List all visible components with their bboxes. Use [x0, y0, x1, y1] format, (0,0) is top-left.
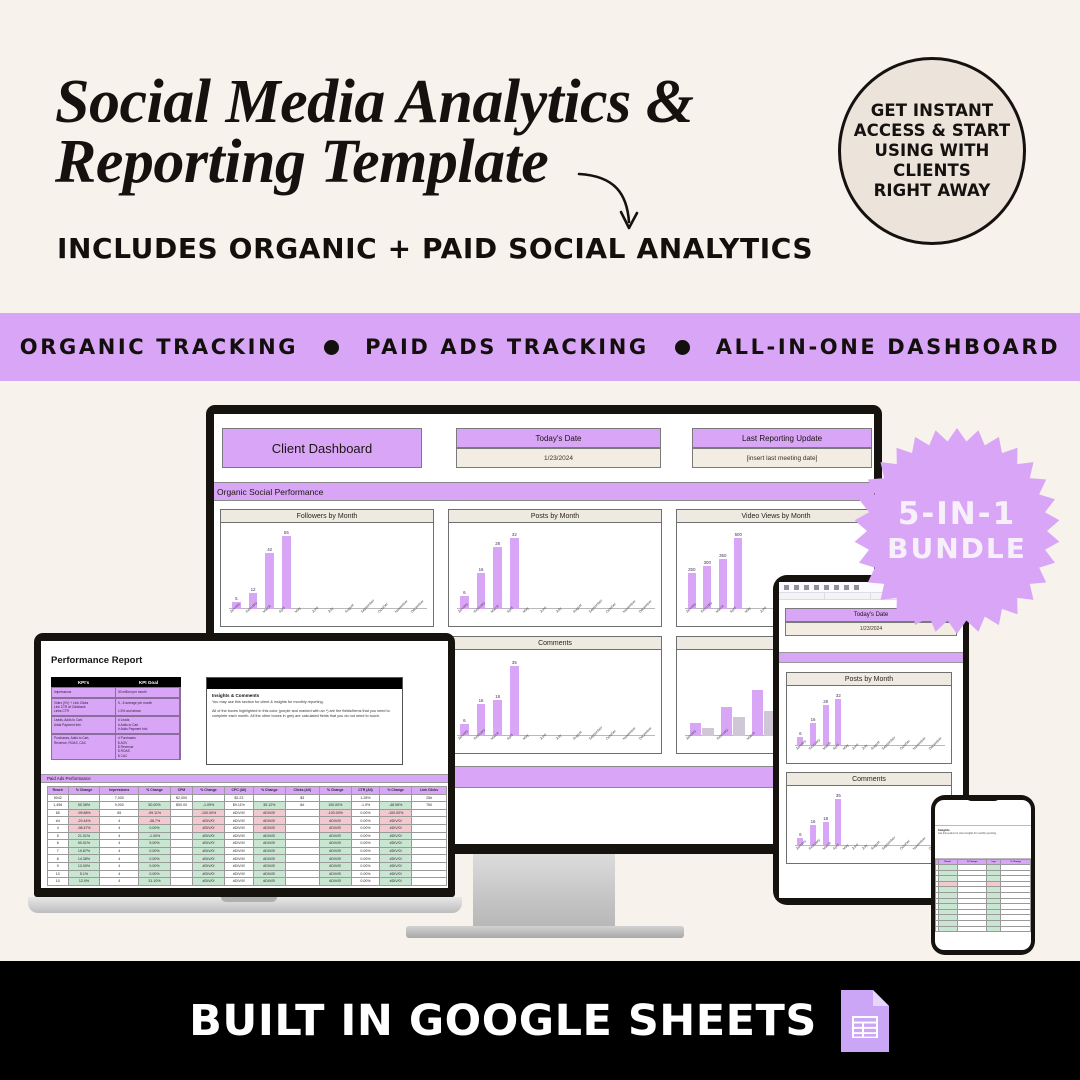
table-cell[interactable]: #DIV/0!	[224, 878, 253, 886]
table-cell[interactable]: #DIV/0!	[224, 870, 253, 878]
table-cell[interactable]: 0.00%	[351, 817, 380, 825]
table-cell[interactable]: $3	[285, 794, 319, 802]
table-cell[interactable]: 5042	[48, 794, 69, 802]
table-cell[interactable]	[412, 840, 447, 848]
table-cell[interactable]: 14.38%	[68, 855, 100, 863]
table-cell[interactable]: #DIV/0!	[193, 832, 225, 840]
monitor-base	[406, 926, 684, 938]
table-cell[interactable]: #DIV/0!	[253, 809, 285, 817]
bar-column: 6	[457, 529, 472, 609]
table-row[interactable]: 814.38%40.00%#DIV/0!#DIV/0!#DIV/0!#DIV/0…	[48, 855, 447, 863]
table-row[interactable]	[936, 926, 1031, 932]
table-cell[interactable]	[170, 847, 192, 855]
kpi-table-cell: Video (VV) + Link Clicks Link CTR at Cli…	[52, 699, 116, 715]
table-cell[interactable]: -100.00%	[380, 809, 412, 817]
table-cell[interactable]: #DIV/0!	[253, 840, 285, 848]
table-cell[interactable]	[412, 862, 447, 870]
redo-icon[interactable]	[794, 585, 799, 590]
column-header-cell[interactable]	[779, 593, 825, 599]
table-cell[interactable]	[412, 817, 447, 825]
table-cell[interactable]	[139, 794, 171, 802]
table-cell[interactable]: 750	[412, 802, 447, 810]
bar-column	[858, 792, 869, 846]
table-cell[interactable]: -99.11%	[139, 809, 171, 817]
table-row[interactable]: 105.1%40.00%#DIV/0!#DIV/0!#DIV/0!#DIV/0!…	[48, 870, 447, 878]
chart-plot-area: 6162832 JanuaryFebruaryMarchAprilMayJune…	[449, 523, 661, 626]
table-cell[interactable]	[170, 809, 192, 817]
table-cell[interactable]: #DIV/0!	[319, 878, 351, 886]
instant-access-badge-text: GET INSTANT ACCESS & START USING WITH CL…	[841, 101, 1023, 202]
table-cell[interactable]: #DIV/0!	[193, 847, 225, 855]
table-cell[interactable]	[957, 926, 987, 932]
bundle-line-1: 5-IN-1	[898, 497, 1016, 532]
table-cell[interactable]: 4	[100, 847, 139, 855]
table-cell[interactable]: 35.12%	[253, 802, 285, 810]
table-cell[interactable]: -100.00%	[193, 809, 225, 817]
table-cell[interactable]	[412, 870, 447, 878]
table-cell[interactable]	[253, 794, 285, 802]
insights-box-header	[207, 678, 402, 689]
table-cell[interactable]: 5.1%	[68, 870, 100, 878]
bar-column	[362, 529, 377, 609]
bar-column: 28	[820, 692, 831, 746]
table-cell[interactable]: #DIV/0!	[253, 878, 285, 886]
bar-column	[909, 692, 920, 746]
table-cell[interactable]	[285, 832, 319, 840]
bar-column: 18	[490, 656, 505, 736]
table-cell[interactable]: #DIV/0!	[380, 870, 412, 878]
table-cell[interactable]	[285, 878, 319, 886]
bar-column	[846, 792, 857, 846]
table-cell[interactable]	[170, 824, 192, 832]
bar-series: 5124255	[229, 529, 427, 609]
table-cell[interactable]: 0.00%	[139, 862, 171, 870]
phone-data-table[interactable]: Reach% ChangeImp.% Change	[935, 859, 1031, 932]
table-cell[interactable]: 50.00%	[139, 802, 171, 810]
table-cell[interactable]	[285, 862, 319, 870]
table-cell[interactable]: #DIV/0!	[253, 824, 285, 832]
x-axis-labels: JanuaryFebruaryMarchAprilMayJuneJulyAugu…	[457, 736, 655, 753]
table-cell[interactable]: 100.00%	[319, 802, 351, 810]
table-cell[interactable]	[412, 824, 447, 832]
table-cell[interactable]: #DIV/0!	[319, 840, 351, 848]
bar-value-label: 35	[836, 793, 841, 798]
feature-strip: ORGANIC TRACKING PAID ADS TRACKING ALL-I…	[0, 313, 1080, 381]
table-cell[interactable]	[285, 855, 319, 863]
table-cell[interactable]: #DIV/0!	[253, 817, 285, 825]
table-cell[interactable]	[170, 855, 192, 863]
table-cell[interactable]	[412, 855, 447, 863]
table-cell[interactable]: 4	[100, 817, 139, 825]
table-cell[interactable]: #DIV/0!	[224, 809, 253, 817]
table-cell[interactable]: -29.44%	[68, 817, 100, 825]
table-cell[interactable]	[285, 817, 319, 825]
table-cell[interactable]: #DIV/0!	[319, 855, 351, 863]
table-cell[interactable]: 0.00%	[351, 862, 380, 870]
table-cell[interactable]	[170, 862, 192, 870]
footer-text: BUILT IN GOOGLE SHEETS	[189, 996, 817, 1046]
column-header: % Change	[193, 787, 225, 795]
table-cell[interactable]: #DIV/0!	[224, 847, 253, 855]
feature-all-in-one-dashboard: ALL-IN-ONE DASHBOARD	[716, 335, 1060, 359]
bar-value-label: 28	[495, 541, 500, 546]
bar-column	[640, 529, 655, 609]
table-cell[interactable]	[285, 809, 319, 817]
page-title: Social Media Analytics & Reporting Templ…	[55, 72, 775, 192]
table-cell[interactable]: 4	[100, 840, 139, 848]
phone-insights-body: Use this section for client insights for…	[938, 832, 1028, 835]
table-cell[interactable]	[412, 878, 447, 886]
table-cell[interactable]: #DIV/0!	[224, 832, 253, 840]
table-row[interactable]: 521.01%4-1.00%#DIV/0!#DIV/0!#DIV/0!#DIV/…	[48, 832, 447, 840]
table-cell[interactable]: $9.11%	[224, 802, 253, 810]
bar-value-label: 35	[512, 660, 517, 665]
table-cell[interactable]	[285, 824, 319, 832]
table-cell[interactable]: 8	[48, 855, 69, 863]
bar-value-label: 6	[799, 731, 801, 736]
table-cell[interactable]: -38.7%	[139, 817, 171, 825]
column-header: CPC (All)	[224, 787, 253, 795]
feature-organic-tracking: ORGANIC TRACKING	[20, 335, 298, 359]
table-row[interactable]: 650.01%45.00%#DIV/0!#DIV/0!#DIV/0!#DIV/0…	[48, 840, 447, 848]
table-cell[interactable]: 4	[100, 878, 139, 886]
table-cell[interactable]: #DIV/0!	[193, 840, 225, 848]
bundle-line-2: BUNDLE	[887, 533, 1027, 565]
curved-arrow-icon	[575, 168, 645, 238]
table-cell[interactable]: #DIV/0!	[380, 862, 412, 870]
table-cell[interactable]	[193, 794, 225, 802]
table-cell[interactable]	[68, 794, 100, 802]
table-cell[interactable]: #DIV/0!	[380, 817, 412, 825]
table-cell[interactable]: 8#	[285, 802, 319, 810]
device-mockup-group: Client Dashboard Today's Date 1/23/2024 …	[0, 381, 1080, 961]
table-cell[interactable]: #DIV/0!	[380, 878, 412, 886]
client-dashboard-title-cell[interactable]: Client Dashboard	[222, 428, 422, 468]
table-cell[interactable]: -1.09%	[193, 802, 225, 810]
last-reporting-update-header: Last Reporting Update	[692, 428, 872, 448]
bar-value-label: 18	[823, 816, 828, 821]
x-axis-labels: JanuaryFebruaryMarchAprilMayJuneJulyAugu…	[457, 609, 655, 626]
table-cell[interactable]: 0.00%	[351, 832, 380, 840]
kpi-table-cell: Purchases, Adds to Cart, Revenue, ROAS, …	[52, 735, 116, 760]
table-cell[interactable]: 4	[48, 824, 69, 832]
kpi-table-row: Purchases, Adds to Cart, Revenue, ROAS, …	[51, 734, 181, 761]
bar-value-label: 300	[704, 560, 711, 565]
table-cell[interactable]: #DIV/0!	[193, 855, 225, 863]
table-cell[interactable]: 13.00%	[68, 862, 100, 870]
strikethrough-icon[interactable]	[824, 585, 829, 590]
bold-icon[interactable]	[804, 585, 809, 590]
todays-date-header: Today's Date	[456, 428, 661, 448]
table-cell[interactable]: #DIV/0!	[319, 847, 351, 855]
bundle-badge-text: 5-IN-1 BUNDLE	[852, 426, 1062, 636]
bar-value-label: 350	[719, 553, 726, 558]
table-cell[interactable]: 65	[48, 809, 69, 817]
kpi-table-cell: # Leads # Adds to Cart # Adds Payment In…	[116, 717, 180, 733]
table-cell[interactable]: 21.01%	[68, 832, 100, 840]
table-cell[interactable]: #DIV/0!	[253, 862, 285, 870]
fill-color-icon[interactable]	[844, 585, 849, 590]
text-color-icon[interactable]	[834, 585, 839, 590]
table-cell[interactable]: 0.00%	[351, 855, 380, 863]
bar-column	[909, 792, 920, 846]
table-cell[interactable]: -48.06%	[380, 802, 412, 810]
five-in-one-bundle-badge: 5-IN-1 BUNDLE	[852, 426, 1062, 636]
table-cell[interactable]: -99.88%	[68, 809, 100, 817]
table-cell[interactable]: 4	[100, 855, 139, 863]
table-cell[interactable]: 0.00%	[351, 847, 380, 855]
table-cell[interactable]: #DIV/0!	[319, 870, 351, 878]
bar-value-label: 18	[495, 694, 500, 699]
table-cell[interactable]: 9	[48, 862, 69, 870]
table-row[interactable]: 65-99.88%65-99.11%-100.00%#DIV/0!#DIV/0!…	[48, 809, 447, 817]
monitor-neck	[473, 854, 615, 930]
table-cell[interactable]	[412, 832, 447, 840]
last-reporting-update-value[interactable]: [insert last meeting date]	[692, 448, 872, 468]
table-cell[interactable]: 65	[100, 809, 139, 817]
table-cell[interactable]: 4	[100, 824, 139, 832]
bar-column: 5	[229, 529, 244, 609]
table-cell[interactable]: 0.00%	[351, 824, 380, 832]
tablet-chart-comments: Comments 6161835 JanuaryFebruaryMarchApr…	[786, 772, 952, 864]
kpi-table-cell: # Purchases $ AOV $ Revenue $ ROAS $ CAC	[116, 735, 180, 760]
table-cell[interactable]: #DIV/0!	[224, 855, 253, 863]
table-row[interactable]: 1012.0%431.10%#DIV/0!#DIV/0!#DIV/0!#DIV/…	[48, 878, 447, 886]
laptop-device: Performance Report KPI's KPI Goal Impres…	[34, 633, 464, 923]
bar-column: 42	[262, 529, 277, 609]
table-cell[interactable]: #DIV/0!	[319, 824, 351, 832]
feature-paid-ads-tracking: PAID ADS TRACKING	[365, 335, 649, 359]
table-cell[interactable]: 0.00%	[351, 840, 380, 848]
table-cell[interactable]: #DIV/0!	[224, 824, 253, 832]
bar-column: 500	[732, 529, 746, 609]
bar-column	[346, 529, 361, 609]
google-sheets-icon	[839, 988, 891, 1054]
table-row[interactable]: 719.87%40.00%#DIV/0!#DIV/0!#DIV/0!#DIV/0…	[48, 847, 447, 855]
performance-report-sheet: Performance Report KPI's KPI Goal Impres…	[41, 641, 448, 888]
undo-icon[interactable]	[784, 585, 789, 590]
table-cell[interactable]: 7,000	[100, 794, 139, 802]
table-cell[interactable]: $50.00	[170, 802, 192, 810]
todays-date-value[interactable]: 1/23/2024	[456, 448, 661, 468]
table-row[interactable]: 913.00%40.00%#DIV/0!#DIV/0!#DIV/0!#DIV/0…	[48, 862, 447, 870]
table-cell[interactable]: #DIV/0!	[380, 847, 412, 855]
table-cell[interactable]: 4	[100, 832, 139, 840]
italic-icon[interactable]	[814, 585, 819, 590]
kpi-table-body: Impressions30 million per monthVideo (VV…	[51, 687, 181, 760]
table-cell[interactable]: 6	[48, 840, 69, 848]
column-header: % Change	[253, 787, 285, 795]
chart-comments: Comments 6161835 JanuaryFebruaryMarchApr…	[448, 636, 662, 754]
insights-box: Insights & Comments You may use this sec…	[206, 677, 403, 765]
table-cell[interactable]	[319, 794, 351, 802]
table-cell[interactable]: 10	[48, 878, 69, 886]
bar-column	[412, 529, 427, 609]
table-cell[interactable]: 0.00%	[139, 855, 171, 863]
table-cell[interactable]	[170, 817, 192, 825]
bar-value-label: 6	[463, 590, 465, 595]
table-cell[interactable]: 0.00%	[351, 878, 380, 886]
table-cell[interactable]: #DIV/0!	[193, 878, 225, 886]
table-cell[interactable]: #DIV/0!	[253, 832, 285, 840]
table-cell[interactable]: #DIV/0!	[380, 824, 412, 832]
table-cell[interactable]: 9,000	[100, 802, 139, 810]
bar-column	[747, 529, 761, 609]
laptop-lid: Performance Report KPI's KPI Goal Impres…	[34, 633, 455, 897]
bar-column	[871, 792, 882, 846]
tablet-section-band	[779, 652, 963, 663]
bar-column	[312, 529, 327, 609]
bar-value-label: 16	[811, 819, 816, 824]
bar-value-label: 32	[836, 693, 841, 698]
bar-column	[524, 656, 539, 736]
chart-posts-by-month: Posts by Month 6162832 JanuaryFebruaryMa…	[448, 509, 662, 627]
paid-ads-performance-band: Paid Ads Performance	[41, 774, 448, 783]
table-cell[interactable]	[170, 870, 192, 878]
table-cell[interactable]: 1.28%	[351, 794, 380, 802]
insights-note: All of the boxes highlighted in this col…	[212, 709, 397, 720]
kpi-table-row: Video (VV) + Link Clicks Link CTR at Cli…	[51, 698, 181, 716]
bar	[835, 699, 841, 746]
chart-plot-area: 5124255 JanuaryFebruaryMarchAprilMayJune…	[221, 523, 433, 626]
table-cell[interactable]: #DIV/0!	[380, 840, 412, 848]
kpi-table-header: KPI's KPI Goal	[51, 677, 181, 687]
table-cell[interactable]	[412, 847, 447, 855]
bar	[282, 536, 291, 609]
table-cell[interactable]	[938, 926, 957, 932]
table-cell[interactable]: $2,000	[170, 794, 192, 802]
table-cell[interactable]: #DIV/0!	[193, 824, 225, 832]
table-cell[interactable]	[285, 847, 319, 855]
table-cell[interactable]: #DIV/0!	[193, 817, 225, 825]
table-cell[interactable]: 31.10%	[139, 878, 171, 886]
table-cell[interactable]	[987, 926, 1001, 932]
table-row[interactable]: #4-29.44%4-38.7%#DIV/0!#DIV/0!#DIV/0!#DI…	[48, 817, 447, 825]
laptop-trackpad-notch	[221, 897, 277, 902]
table-cell[interactable]: 0.00%	[351, 809, 380, 817]
bar-column	[896, 792, 907, 846]
column-header: Impressions	[100, 787, 139, 795]
table-cell[interactable]	[170, 832, 192, 840]
bar-column	[557, 529, 572, 609]
table-row[interactable]: 1,45650.38%9,00050.00%$50.00-1.09%$9.11%…	[48, 802, 447, 810]
table-cell[interactable]: #DIV/0!	[380, 855, 412, 863]
bar-column: 300	[701, 529, 715, 609]
table-cell[interactable]	[1001, 926, 1031, 932]
table-cell[interactable]	[170, 840, 192, 848]
insights-body: You may use this section for client & in…	[212, 700, 397, 704]
bar-value-label: 32	[512, 532, 517, 537]
bar-column: 28	[490, 529, 505, 609]
column-header: Reach	[48, 787, 69, 795]
table-cell[interactable]: #DIV/0!	[224, 817, 253, 825]
bar-column	[871, 692, 882, 746]
table-cell[interactable]: #DIV/0!	[253, 870, 285, 878]
bar-column: 32	[507, 529, 522, 609]
table-cell[interactable]	[285, 870, 319, 878]
table-cell[interactable]: 19.87%	[68, 847, 100, 855]
bar-column: 350	[716, 529, 730, 609]
table-cell[interactable]: -1.00%	[139, 832, 171, 840]
table-cell[interactable]: #DIV/0!	[224, 862, 253, 870]
bar-column	[624, 656, 639, 736]
bar-column	[396, 529, 411, 609]
table-cell[interactable]: 5	[48, 832, 69, 840]
table-cell[interactable]: -100.00%	[319, 809, 351, 817]
bar-value-label: 250	[688, 567, 695, 572]
table-cell[interactable]: #DIV/0!	[319, 817, 351, 825]
bar-value-label: 16	[479, 698, 484, 703]
table-cell[interactable]	[170, 878, 192, 886]
table-cell[interactable]: #DIV/0!	[253, 847, 285, 855]
table-cell[interactable]: 1,456	[48, 802, 69, 810]
table-cell[interactable]: #DIV/0!	[380, 832, 412, 840]
table-cell[interactable]	[380, 794, 412, 802]
table-cell[interactable]: 4	[100, 870, 139, 878]
column-header: % Change	[139, 787, 171, 795]
table-cell[interactable]: #4	[48, 817, 69, 825]
bar	[734, 538, 742, 609]
phone-blank-row	[935, 800, 1031, 826]
table-cell[interactable]: 7	[48, 847, 69, 855]
bar-series: 6162832	[457, 529, 655, 609]
bar-column	[896, 692, 907, 746]
table-row[interactable]: 50427,000$2,000$2.23$31.28%25#	[48, 794, 447, 802]
bar-value-label: 16	[479, 567, 484, 572]
table-cell[interactable]: -1.9%	[351, 802, 380, 810]
table-cell[interactable]: #DIV/0!	[193, 870, 225, 878]
table-cell[interactable]: 5.00%	[139, 840, 171, 848]
table-cell[interactable]: 25#	[412, 794, 447, 802]
smartphone-device: Insights Use this section for client ins…	[931, 795, 1035, 955]
table-cell[interactable]: $2.23	[224, 794, 253, 802]
bar-column	[607, 656, 622, 736]
table-cell[interactable]	[285, 840, 319, 848]
table-cell[interactable]: #DIV/0!	[224, 840, 253, 848]
bar-column	[590, 656, 605, 736]
table-cell[interactable]: 0.00%	[139, 824, 171, 832]
footer-banner: BUILT IN GOOGLE SHEETS	[0, 961, 1080, 1080]
table-cell[interactable]: 12.0%	[68, 878, 100, 886]
bar-column: 32	[833, 692, 844, 746]
table-cell[interactable]	[412, 809, 447, 817]
table-cell[interactable]: #DIV/0!	[319, 862, 351, 870]
bar-column	[540, 656, 555, 736]
table-cell[interactable]: 50.38%	[68, 802, 100, 810]
phone-screen: Insights Use this section for client ins…	[935, 800, 1031, 950]
table-cell[interactable]: 0.00%	[139, 847, 171, 855]
column-header: CPM	[170, 787, 192, 795]
bar	[823, 705, 829, 746]
kpi-table-cell: Impressions	[52, 688, 116, 697]
bar	[835, 799, 841, 846]
table-cell[interactable]: 0.00%	[351, 870, 380, 878]
table-cell[interactable]: #DIV/0!	[319, 832, 351, 840]
table-cell[interactable]: 50.01%	[68, 840, 100, 848]
bullet-dot-icon	[675, 340, 690, 355]
phone-notch	[966, 796, 1000, 801]
table-row[interactable]: 4-98.47%40.00%#DIV/0!#DIV/0!#DIV/0!#DIV/…	[48, 824, 447, 832]
table-cell[interactable]: #DIV/0!	[253, 855, 285, 863]
table-cell[interactable]: -98.47%	[68, 824, 100, 832]
bar-column	[590, 529, 605, 609]
table-cell[interactable]: #DIV/0!	[193, 862, 225, 870]
table-cell[interactable]: 0.00%	[139, 870, 171, 878]
bar-column	[379, 529, 394, 609]
table-cell[interactable]: 10	[48, 870, 69, 878]
table-cell[interactable]: 4	[100, 862, 139, 870]
column-header: % Change	[380, 787, 412, 795]
